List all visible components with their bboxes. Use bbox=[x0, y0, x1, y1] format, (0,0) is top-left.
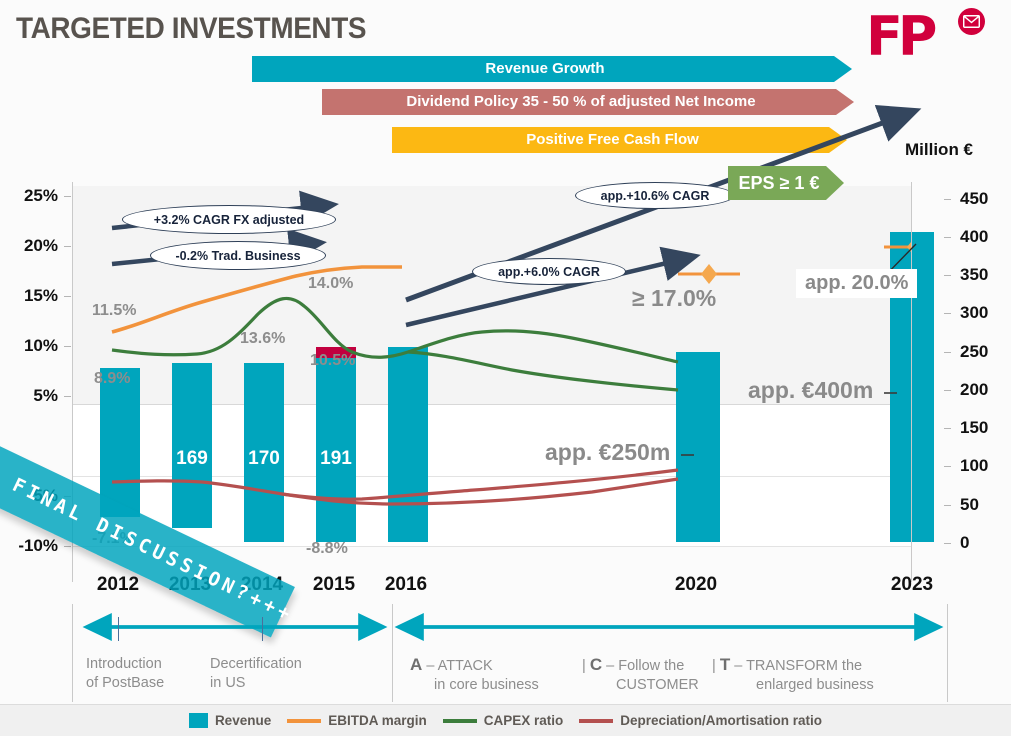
y-tick-5: 5% bbox=[0, 386, 58, 406]
y2-tickmark bbox=[944, 466, 951, 467]
y2-tick-250: 250 bbox=[960, 342, 988, 362]
strategy-letter-c: C bbox=[590, 655, 602, 674]
banner-label: Dividend Policy 35 - 50 % of adjusted Ne… bbox=[322, 89, 854, 115]
legend-swatch-ebitda bbox=[287, 719, 321, 723]
annotation-ebitda-2023: app. 20.0% bbox=[796, 269, 917, 298]
ebitda-line bbox=[112, 267, 402, 332]
timeline-label-decertification: Decertification in US bbox=[210, 655, 302, 693]
right-axis-title: Million € bbox=[905, 140, 973, 160]
x-label-2016: 2016 bbox=[385, 574, 427, 596]
y2-tickmark bbox=[944, 237, 951, 238]
strategy-transform: | T – TRANSFORM the enlarged business bbox=[712, 655, 874, 695]
legend-swatch-revenue bbox=[189, 713, 208, 728]
strategy-transform-line1: – TRANSFORM the bbox=[734, 658, 862, 674]
y-tickmark bbox=[64, 246, 71, 247]
x-label-2023: 2023 bbox=[891, 574, 933, 596]
strategy-separator: | bbox=[582, 658, 586, 674]
callout-cagr-low: app.+6.0% CAGR bbox=[472, 258, 626, 285]
y2-tick-50: 50 bbox=[960, 495, 979, 515]
y2-tickmark bbox=[944, 199, 951, 200]
y2-tickmark bbox=[944, 428, 951, 429]
banner-free-cash-flow: Positive Free Cash Flow bbox=[392, 127, 847, 153]
timeline-label-line2: of PostBase bbox=[86, 674, 164, 693]
label-ebitda-2012: 11.5% bbox=[92, 302, 136, 320]
y-tick-10: 10% bbox=[0, 336, 58, 356]
y2-tick-300: 300 bbox=[960, 303, 988, 323]
slide-canvas: TARGETED INVESTMENTS FP Revenue Growth D… bbox=[0, 0, 1011, 736]
chart-legend: Revenue EBITDA margin CAPEX ratio Deprec… bbox=[0, 704, 1011, 736]
da-line-lower bbox=[282, 479, 678, 504]
annotation-revenue-2020: app. €250m bbox=[545, 439, 670, 466]
legend-item-capex: CAPEX ratio bbox=[443, 713, 564, 728]
legend-label-da: Depreciation/Amortisation ratio bbox=[620, 713, 822, 728]
legend-label-revenue: Revenue bbox=[215, 713, 271, 728]
legend-label-capex: CAPEX ratio bbox=[484, 713, 564, 728]
legend-item-revenue: Revenue bbox=[189, 713, 271, 728]
x-label-2012: 2012 bbox=[97, 574, 139, 596]
strategy-transform-line2: enlarged business bbox=[712, 676, 874, 695]
y2-tickmark bbox=[944, 505, 951, 506]
banner-label: Positive Free Cash Flow bbox=[392, 127, 847, 153]
y-tick-15: 15% bbox=[0, 286, 58, 306]
strategy-letter-t: T bbox=[720, 655, 730, 674]
strategy-attack-line2: in core business bbox=[410, 676, 539, 695]
eps-badge: EPS ≥ 1 € bbox=[728, 166, 844, 200]
y2-tick-100: 100 bbox=[960, 456, 988, 476]
chart-plot-area: 169 170 191 bbox=[72, 186, 912, 546]
right-axis-line bbox=[911, 182, 912, 582]
y2-tick-450: 450 bbox=[960, 189, 988, 209]
banner-revenue-growth: Revenue Growth bbox=[252, 56, 852, 82]
callout-cagr-high: app.+10.6% CAGR bbox=[575, 182, 735, 209]
y-tick-minus10: -10% bbox=[0, 536, 58, 556]
y2-tick-400: 400 bbox=[960, 227, 988, 247]
y-tickmark bbox=[64, 396, 71, 397]
legend-swatch-capex bbox=[443, 719, 477, 723]
envelope-icon bbox=[958, 8, 985, 35]
strategy-customer-line1: – Follow the bbox=[606, 658, 684, 674]
page-title: TARGETED INVESTMENTS bbox=[16, 12, 366, 46]
label-da-2015: -8.8% bbox=[306, 540, 348, 558]
strategy-separator: | bbox=[712, 658, 716, 674]
series-lines bbox=[72, 186, 912, 546]
legend-item-da: Depreciation/Amortisation ratio bbox=[579, 713, 822, 728]
strategy-attack: A – ATTACK in core business bbox=[410, 655, 539, 695]
x-label-2020: 2020 bbox=[675, 574, 717, 596]
label-ebitda-2015: 14.0% bbox=[308, 275, 353, 293]
y-tickmark bbox=[64, 296, 71, 297]
legend-swatch-da bbox=[579, 719, 613, 723]
timeline-arrows bbox=[0, 612, 1011, 652]
ebitda-target-2020 bbox=[678, 264, 740, 284]
legend-label-ebitda: EBITDA margin bbox=[328, 713, 427, 728]
fp-logo: FP bbox=[866, 8, 996, 64]
y2-tickmark bbox=[944, 390, 951, 391]
y-tickmark bbox=[64, 546, 71, 547]
y2-tick-150: 150 bbox=[960, 418, 988, 438]
callout-historic-cagr: +3.2% CAGR FX adjusted bbox=[122, 205, 336, 234]
da-line-upper bbox=[112, 470, 678, 499]
callout-historic-trad: -0.2% Trad. Business bbox=[150, 241, 326, 270]
label-capex-2012: 8.9% bbox=[94, 370, 130, 388]
label-capex-2015: 10.5% bbox=[310, 352, 355, 370]
capex-line-lower bbox=[408, 352, 678, 390]
y2-tick-0: 0 bbox=[960, 533, 969, 553]
strategy-attack-line1: – ATTACK bbox=[426, 658, 492, 674]
y-tick-20: 20% bbox=[0, 236, 58, 256]
timeline-label-line2: in US bbox=[210, 674, 302, 693]
y-tick-25: 25% bbox=[0, 186, 58, 206]
y2-tickmark bbox=[944, 275, 951, 276]
strategy-customer: | C – Follow the CUSTOMER bbox=[582, 655, 699, 695]
annotation-ebitda-2020: ≥ 17.0% bbox=[632, 285, 716, 312]
timeline-tick-2014 bbox=[262, 617, 263, 641]
strategy-letter-a: A bbox=[410, 655, 422, 674]
legend-item-ebitda: EBITDA margin bbox=[287, 713, 427, 728]
strategy-customer-line2: CUSTOMER bbox=[582, 676, 699, 695]
y2-tickmark bbox=[944, 313, 951, 314]
banner-label: Revenue Growth bbox=[252, 56, 852, 82]
timeline-label-line1: Introduction bbox=[86, 655, 164, 674]
y2-tickmark bbox=[944, 543, 951, 544]
y-tickmark bbox=[64, 196, 71, 197]
label-capex-2014: 13.6% bbox=[240, 330, 285, 348]
timeline-label-line1: Decertification bbox=[210, 655, 302, 674]
timeline-label-postbase: Introduction of PostBase bbox=[86, 655, 164, 693]
eps-badge-label: EPS ≥ 1 € bbox=[728, 166, 844, 200]
capex-line-upper bbox=[112, 298, 678, 362]
x-label-2015: 2015 bbox=[313, 574, 355, 596]
y2-tickmark bbox=[944, 352, 951, 353]
y2-tick-200: 200 bbox=[960, 380, 988, 400]
banner-dividend-policy: Dividend Policy 35 - 50 % of adjusted Ne… bbox=[322, 89, 854, 115]
ebitda-target-2023 bbox=[884, 237, 912, 257]
timeline-tick-2012 bbox=[118, 617, 119, 641]
annotation-revenue-2023: app. €400m bbox=[748, 377, 873, 404]
y-tickmark bbox=[64, 346, 71, 347]
y2-tick-350: 350 bbox=[960, 265, 988, 285]
logo-wordmark: FP bbox=[866, 10, 932, 64]
